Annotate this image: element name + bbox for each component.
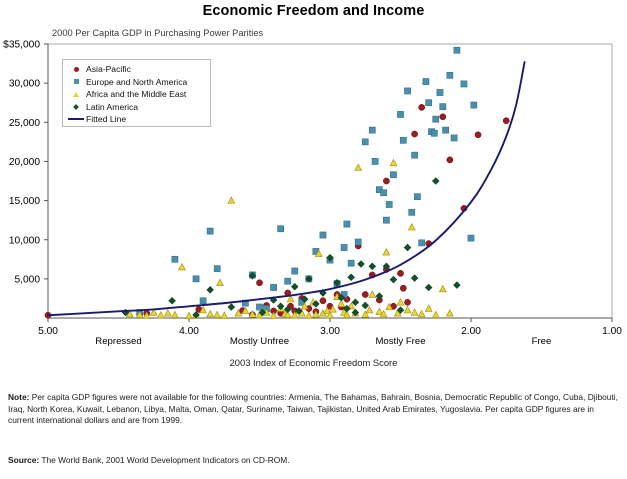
data-point bbox=[207, 286, 214, 293]
y-tick-label: 20,000 bbox=[9, 157, 40, 168]
data-point bbox=[418, 310, 425, 316]
x-tick-label: 2.00 bbox=[461, 326, 481, 337]
legend-item-fitted-line: Fitted Line bbox=[68, 113, 206, 126]
data-point bbox=[362, 139, 368, 145]
source-text: The World Bank, 2001 World Development I… bbox=[39, 455, 289, 465]
data-point bbox=[432, 311, 439, 317]
data-point bbox=[411, 275, 418, 282]
data-point bbox=[256, 304, 262, 310]
data-point bbox=[228, 304, 235, 311]
legend-label: Europe and North America bbox=[86, 77, 187, 87]
data-point bbox=[348, 260, 354, 266]
data-point bbox=[214, 266, 220, 272]
chart-page: Economic Freedom and Income 2000 Per Cap… bbox=[0, 0, 627, 479]
x-tick-label: 4.00 bbox=[179, 326, 199, 337]
x-tick-label: 5.00 bbox=[38, 326, 58, 337]
x-category-label: Repressed bbox=[95, 336, 141, 347]
legend-item-asia-pacific: Asia-Pacific bbox=[68, 63, 206, 76]
data-point bbox=[200, 298, 206, 304]
data-point bbox=[355, 164, 362, 170]
data-point bbox=[431, 130, 437, 136]
data-point bbox=[404, 88, 410, 94]
data-point bbox=[355, 239, 361, 245]
circle-marker-icon bbox=[68, 67, 84, 72]
data-point bbox=[404, 244, 411, 251]
data-point bbox=[228, 197, 235, 203]
data-point bbox=[404, 307, 411, 313]
source-label: Source: bbox=[8, 455, 39, 465]
legend-item-africa-middle-east: Africa and the Middle East bbox=[68, 88, 206, 101]
note-footnote: Note: Per capita GDP figures were not av… bbox=[8, 392, 620, 427]
data-point bbox=[408, 224, 415, 230]
data-point bbox=[411, 309, 418, 315]
data-point bbox=[372, 158, 378, 164]
data-point bbox=[412, 131, 418, 137]
data-point bbox=[369, 263, 376, 270]
data-point bbox=[164, 310, 171, 316]
data-point bbox=[440, 104, 446, 110]
data-point bbox=[186, 312, 193, 318]
data-point bbox=[383, 217, 389, 223]
triangle-marker-icon bbox=[68, 92, 84, 97]
y-tick-label: 15,000 bbox=[9, 196, 40, 207]
data-point bbox=[468, 235, 474, 241]
chart-legend: Asia-Pacific Europe and North America Af… bbox=[62, 59, 211, 127]
data-point bbox=[397, 299, 404, 305]
data-point bbox=[214, 311, 221, 317]
data-point bbox=[348, 274, 355, 281]
data-point bbox=[358, 260, 365, 267]
data-point bbox=[380, 190, 386, 196]
legend-label: Latin America bbox=[86, 102, 138, 112]
data-point bbox=[404, 299, 410, 305]
y-tick-label: 5,000 bbox=[15, 274, 41, 285]
data-point bbox=[193, 276, 199, 282]
data-point bbox=[207, 310, 214, 316]
data-point bbox=[437, 89, 443, 95]
data-point bbox=[291, 283, 298, 290]
data-point bbox=[423, 78, 429, 84]
legend-label: Asia-Pacific bbox=[86, 64, 131, 74]
data-point bbox=[366, 307, 373, 313]
data-point bbox=[400, 137, 406, 143]
y-tick-label: 25,000 bbox=[9, 118, 40, 129]
source-footnote: Source: The World Bank, 2001 World Devel… bbox=[8, 455, 620, 467]
data-point bbox=[390, 276, 397, 283]
data-point bbox=[172, 256, 178, 262]
data-point bbox=[383, 249, 390, 255]
data-point bbox=[443, 127, 449, 133]
data-point bbox=[221, 312, 228, 318]
data-point bbox=[414, 194, 420, 200]
data-point bbox=[397, 270, 403, 276]
legend-item-latin-america: Latin America bbox=[68, 101, 206, 114]
data-point bbox=[320, 298, 326, 304]
data-point bbox=[292, 268, 298, 274]
data-point bbox=[390, 172, 396, 178]
data-point bbox=[285, 278, 291, 284]
data-point bbox=[320, 232, 326, 238]
series-asia-pacific bbox=[45, 104, 509, 318]
data-point bbox=[386, 201, 392, 207]
data-point bbox=[426, 100, 432, 106]
x-tick-label: 3.00 bbox=[320, 326, 340, 337]
data-point bbox=[362, 302, 369, 309]
data-point bbox=[217, 279, 224, 285]
data-point bbox=[341, 244, 347, 250]
data-point bbox=[397, 111, 403, 117]
data-point bbox=[439, 285, 446, 291]
data-point bbox=[352, 299, 359, 306]
data-point bbox=[440, 114, 446, 120]
data-point bbox=[271, 284, 277, 290]
data-point bbox=[157, 312, 164, 318]
data-point bbox=[453, 282, 460, 289]
data-point bbox=[256, 280, 262, 286]
legend-label: Fitted Line bbox=[86, 114, 126, 124]
diamond-marker-icon bbox=[68, 105, 84, 109]
y-tick-label: $35,000 bbox=[3, 40, 40, 51]
data-point bbox=[412, 152, 418, 158]
data-point bbox=[475, 132, 481, 138]
y-tick-label: 30,000 bbox=[9, 79, 40, 90]
data-point bbox=[305, 312, 312, 318]
data-point bbox=[383, 178, 389, 184]
x-tick-label: 1.00 bbox=[602, 326, 622, 337]
data-point bbox=[425, 305, 432, 311]
square-marker-icon bbox=[68, 79, 84, 84]
data-point bbox=[344, 221, 350, 227]
data-point bbox=[471, 102, 477, 108]
x-category-label: Mostly Unfree bbox=[230, 336, 289, 347]
data-point bbox=[278, 226, 284, 232]
data-point bbox=[425, 284, 432, 291]
data-point bbox=[390, 159, 397, 165]
data-point bbox=[277, 303, 284, 310]
data-point bbox=[179, 264, 186, 270]
data-point bbox=[454, 47, 460, 53]
data-point bbox=[432, 178, 439, 185]
data-point bbox=[169, 297, 176, 304]
legend-item-europe-north-america: Europe and North America bbox=[68, 76, 206, 89]
data-point bbox=[447, 72, 453, 78]
line-marker-icon bbox=[68, 118, 84, 120]
data-point bbox=[503, 118, 509, 124]
data-point bbox=[447, 157, 453, 163]
data-point bbox=[369, 291, 376, 297]
data-point bbox=[172, 311, 179, 317]
x-axis-title: 2003 Index of Economic Freedom Score bbox=[0, 357, 627, 368]
x-category-label: Free bbox=[532, 336, 552, 347]
data-point bbox=[451, 135, 457, 141]
scatter-plot: $35,00030,00025,00020,00015,00010,0005,0… bbox=[0, 0, 627, 380]
data-point bbox=[400, 285, 406, 291]
data-point bbox=[446, 310, 453, 316]
note-text: Per capita GDP figures were not availabl… bbox=[8, 392, 618, 425]
y-tick-label: 10,000 bbox=[9, 235, 40, 246]
data-point bbox=[369, 127, 375, 133]
data-point bbox=[207, 228, 213, 234]
data-point bbox=[362, 291, 368, 297]
data-point bbox=[419, 240, 425, 246]
legend-label: Africa and the Middle East bbox=[86, 89, 186, 99]
x-category-label: Mostly Free bbox=[375, 336, 425, 347]
data-point bbox=[461, 81, 467, 87]
data-point bbox=[419, 104, 425, 110]
note-label: Note: bbox=[8, 392, 29, 402]
data-point bbox=[409, 209, 415, 215]
data-point bbox=[433, 116, 439, 122]
